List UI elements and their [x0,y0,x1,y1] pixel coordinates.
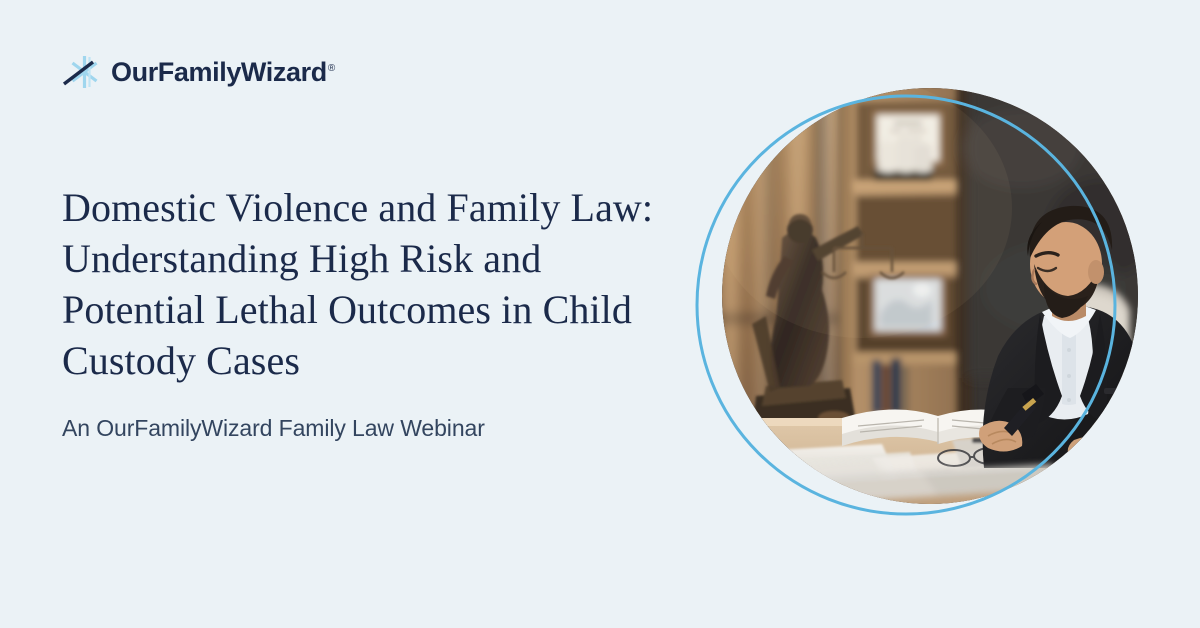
hero-photo [722,88,1138,504]
ourfamilywizard-logo[interactable]: OurFamilyWizard® [62,50,335,94]
ourfamilywizard-asterisk-mark-icon [62,52,102,92]
page-title-line-1: Domestic Violence and Family Law: [62,182,672,233]
hero-media [690,78,1150,538]
page-subtitle: An OurFamilyWizard Family Law Webinar [62,413,485,443]
page-title-line-4: Custody Cases [62,335,672,386]
logo-wordmark: OurFamilyWizard® [111,59,335,86]
webinar-promo-canvas: OurFamilyWizard® Domestic Violence and F… [0,0,1200,628]
page-title-line-3: Potential Lethal Outcomes in Child [62,284,672,335]
page-title-line-2: Understanding High Risk and [62,233,672,284]
logo-wordmark-text: OurFamilyWizard [111,57,327,87]
page-title: Domestic Violence and Family Law: Unders… [62,182,672,386]
registered-trademark-symbol: ® [328,63,335,74]
